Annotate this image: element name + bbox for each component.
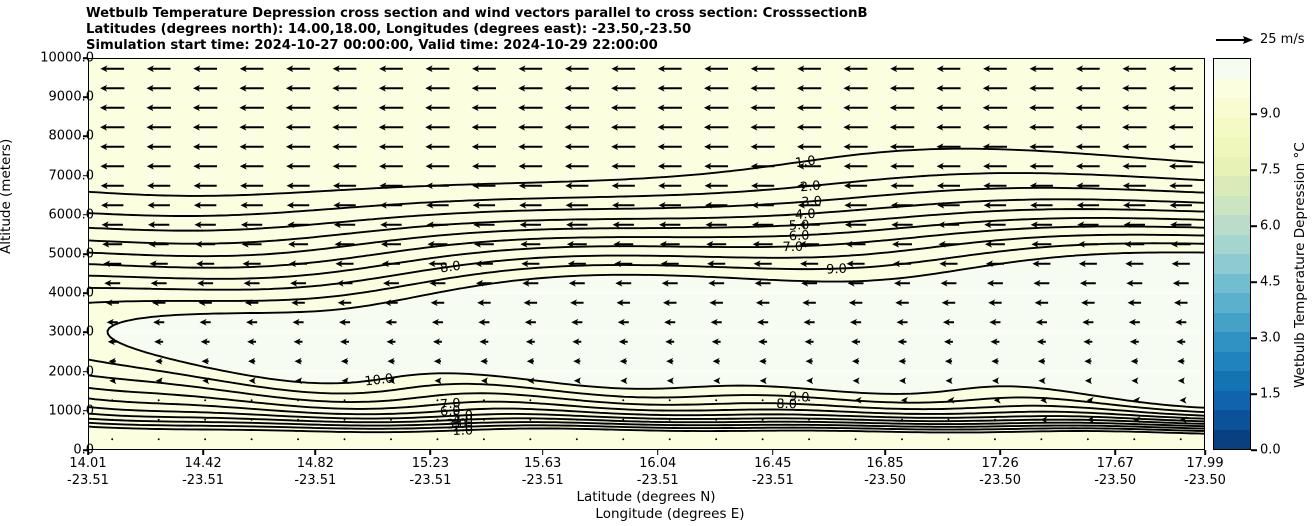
colorbar-band bbox=[1214, 313, 1250, 333]
colorbar-tick-mark bbox=[1251, 225, 1257, 227]
x-tick-longitude: -23.51 bbox=[182, 473, 224, 490]
plot-layers: 1.01.02.02.03.03.04.04.05.05.06.06.07.07… bbox=[89, 59, 1204, 449]
x-axis-tick-label: 16.85-23.50 bbox=[864, 456, 906, 489]
chart-page: Wetbulb Temperature Depression cross sec… bbox=[0, 0, 1312, 526]
svg-text:1.0: 1.0 bbox=[794, 153, 816, 171]
colorbar-tick-mark bbox=[1251, 449, 1257, 451]
colorbar-tick-mark bbox=[1251, 281, 1257, 283]
colorbar-tick-mark bbox=[1251, 113, 1257, 115]
colorbar-band bbox=[1214, 391, 1250, 411]
y-axis-tick-mark bbox=[83, 96, 88, 98]
x-axis-tick-label: 15.63-23.51 bbox=[522, 456, 564, 489]
colorbar-band bbox=[1214, 176, 1250, 196]
contour-label: 9.0 bbox=[786, 390, 813, 406]
x-axis-tick-mark bbox=[202, 450, 204, 455]
x-axis-tick-mark bbox=[657, 450, 659, 455]
contour-label: 1.0 bbox=[792, 153, 820, 171]
x-axis-tick-label: 17.67-23.50 bbox=[1094, 456, 1136, 489]
colorbar-band bbox=[1214, 157, 1250, 177]
colorbar-band bbox=[1214, 196, 1250, 216]
y-axis-tick-mark bbox=[83, 214, 88, 216]
colorbar-band bbox=[1214, 98, 1250, 118]
x-axis-tick-mark bbox=[772, 450, 774, 455]
contour-label: 8.0 bbox=[436, 258, 464, 277]
colorbar-band bbox=[1214, 293, 1250, 313]
contour-label: 7.0 bbox=[780, 240, 806, 256]
y-axis-label: Altitude (meters) bbox=[0, 139, 14, 254]
colorbar-band bbox=[1214, 352, 1250, 372]
y-axis-tick-mark bbox=[83, 371, 88, 373]
x-axis-tick-mark bbox=[430, 450, 432, 455]
x-tick-longitude: -23.51 bbox=[637, 473, 679, 490]
x-tick-longitude: -23.50 bbox=[864, 473, 906, 490]
svg-text:2.0: 2.0 bbox=[799, 179, 821, 196]
x-axis-tick-mark bbox=[87, 450, 89, 455]
x-axis-label-longitude: Longitude (degrees E) bbox=[595, 506, 744, 522]
svg-text:8.0: 8.0 bbox=[439, 259, 462, 277]
x-tick-longitude: -23.51 bbox=[294, 473, 336, 490]
x-axis-tick-label: 14.82-23.51 bbox=[294, 456, 336, 489]
colorbar-tick-label: 4.5 bbox=[1260, 275, 1281, 290]
y-axis-tick-mark bbox=[83, 57, 88, 59]
x-axis-tick-label: 16.45-23.51 bbox=[752, 456, 794, 489]
contour-label: 10.0 bbox=[364, 371, 394, 389]
title-line-3: Simulation start time: 2024-10-27 00:00:… bbox=[86, 38, 1186, 54]
y-axis-tick-mark bbox=[83, 332, 88, 334]
x-tick-latitude: 14.82 bbox=[294, 456, 336, 473]
colorbar-band bbox=[1214, 59, 1250, 79]
x-tick-latitude: 14.01 bbox=[67, 456, 109, 473]
x-axis-tick-label: 17.99-23.50 bbox=[1184, 456, 1226, 489]
x-axis-tick-label: 17.26-23.50 bbox=[979, 456, 1021, 489]
x-tick-longitude: -23.51 bbox=[409, 473, 451, 490]
colorbar-tick-mark bbox=[1251, 169, 1257, 171]
contour-label-layer: 1.01.02.02.03.03.04.04.05.05.06.06.07.07… bbox=[89, 59, 1204, 449]
colorbar-tick-label: 9.0 bbox=[1260, 107, 1281, 122]
x-tick-longitude: -23.51 bbox=[522, 473, 564, 490]
x-tick-latitude: 16.85 bbox=[864, 456, 906, 473]
wind-key-label: 25 m/s bbox=[1260, 32, 1305, 47]
colorbar-tick-label: 7.5 bbox=[1260, 163, 1281, 178]
svg-text:9.0: 9.0 bbox=[826, 262, 847, 278]
title-line-1: Wetbulb Temperature Depression cross sec… bbox=[86, 6, 1186, 22]
colorbar-band bbox=[1214, 332, 1250, 352]
colorbar-tick-label: 0.0 bbox=[1260, 443, 1281, 458]
x-axis-tick-mark bbox=[999, 450, 1001, 455]
x-axis-tick-mark bbox=[315, 450, 317, 455]
x-axis-tick-mark bbox=[542, 450, 544, 455]
colorbar-tick-label: 6.0 bbox=[1260, 219, 1281, 234]
svg-text:7.0: 7.0 bbox=[782, 240, 803, 255]
x-axis-tick-label: 15.23-23.51 bbox=[409, 456, 451, 489]
colorbar-band bbox=[1214, 410, 1250, 430]
x-axis-tick-mark bbox=[1204, 450, 1206, 455]
colorbar-tick-label: 1.5 bbox=[1260, 387, 1281, 402]
colorbar-tick-label: 3.0 bbox=[1260, 331, 1281, 346]
x-axis-tick-label: 14.01-23.51 bbox=[67, 456, 109, 489]
x-axis-tick-label: 14.42-23.51 bbox=[182, 456, 224, 489]
x-tick-longitude: -23.50 bbox=[1184, 473, 1226, 490]
svg-text:9.0: 9.0 bbox=[788, 390, 809, 406]
x-tick-longitude: -23.51 bbox=[67, 473, 109, 490]
x-tick-latitude: 14.42 bbox=[182, 456, 224, 473]
x-axis-tick-mark bbox=[884, 450, 886, 455]
colorbar-band bbox=[1214, 274, 1250, 294]
y-axis-tick-mark bbox=[83, 175, 88, 177]
x-tick-latitude: 15.63 bbox=[522, 456, 564, 473]
colorbar-band bbox=[1214, 118, 1250, 138]
contour-label: 2.0 bbox=[797, 178, 824, 195]
wind-vector-key: 25 m/s bbox=[1215, 32, 1305, 47]
right-arrow-icon bbox=[1215, 33, 1255, 47]
x-tick-latitude: 17.99 bbox=[1184, 456, 1226, 473]
x-tick-latitude: 15.23 bbox=[409, 456, 451, 473]
x-axis-tick-mark bbox=[1114, 450, 1116, 455]
svg-text:10.0: 10.0 bbox=[364, 371, 394, 389]
x-tick-latitude: 16.45 bbox=[752, 456, 794, 473]
x-tick-latitude: 16.04 bbox=[637, 456, 679, 473]
colorbar-tick-mark bbox=[1251, 393, 1257, 395]
colorbar-band bbox=[1214, 235, 1250, 255]
y-axis-tick-mark bbox=[83, 292, 88, 294]
colorbar bbox=[1213, 58, 1251, 450]
x-tick-latitude: 17.67 bbox=[1094, 456, 1136, 473]
y-axis-tick-mark bbox=[83, 136, 88, 138]
colorbar-band bbox=[1214, 79, 1250, 99]
colorbar-label: Wetbulb Temperature Depression °C bbox=[1292, 142, 1308, 388]
chart-title-block: Wetbulb Temperature Depression cross sec… bbox=[86, 6, 1186, 55]
y-axis-tick-mark bbox=[83, 253, 88, 255]
x-tick-longitude: -23.51 bbox=[752, 473, 794, 490]
colorbar-band bbox=[1214, 215, 1250, 235]
colorbar-band bbox=[1214, 254, 1250, 274]
svg-text:7.0: 7.0 bbox=[439, 396, 461, 413]
x-axis-tick-label: 16.04-23.51 bbox=[637, 456, 679, 489]
y-axis-tick-mark bbox=[83, 410, 88, 412]
x-tick-longitude: -23.50 bbox=[1094, 473, 1136, 490]
colorbar-tick-mark bbox=[1251, 337, 1257, 339]
contour-label: 9.0 bbox=[823, 262, 850, 278]
title-line-2: Latitudes (degrees north): 14.00,18.00, … bbox=[86, 22, 1186, 38]
x-tick-longitude: -23.50 bbox=[979, 473, 1021, 490]
colorbar-band bbox=[1214, 137, 1250, 157]
colorbar-band bbox=[1214, 430, 1250, 450]
cross-section-plot-area: 1.01.02.02.03.03.04.04.05.05.06.06.07.07… bbox=[88, 58, 1205, 450]
contour-label: 7.0 bbox=[437, 396, 464, 413]
colorbar-band bbox=[1214, 371, 1250, 391]
x-axis-label-latitude: Latitude (degrees N) bbox=[576, 489, 715, 505]
x-tick-latitude: 17.26 bbox=[979, 456, 1021, 473]
